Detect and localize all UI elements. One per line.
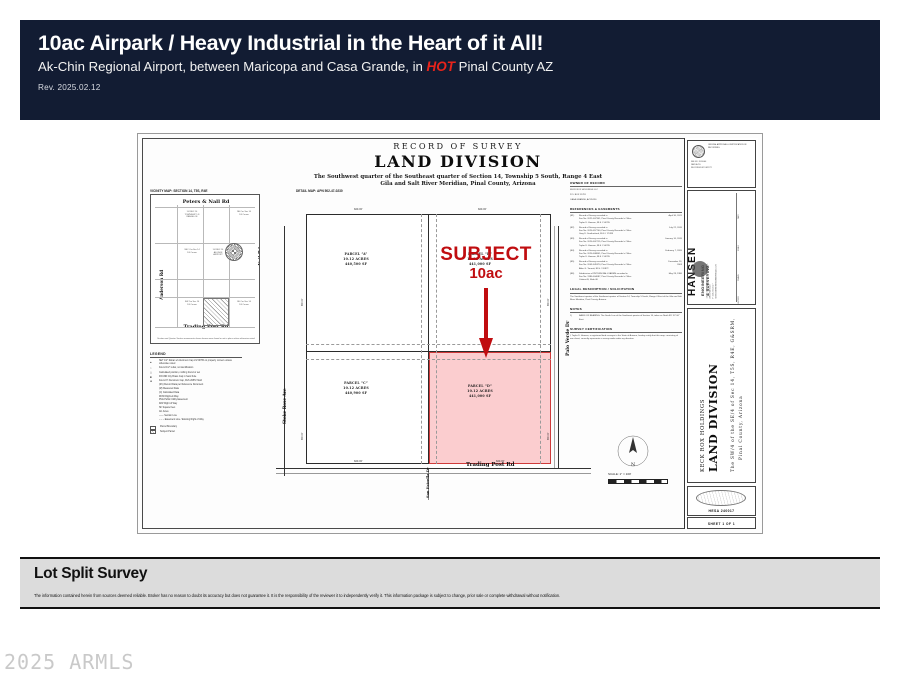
reference-date: January 10, 2020 — [664, 238, 682, 248]
parcel-a-sf: 440,500 SF — [328, 262, 384, 267]
revision-date: Rev. 2025.02.12 — [38, 83, 862, 92]
legal-description-line1: The Southwest quarter of the Southeast q… — [298, 174, 618, 180]
reference-number: (R2) — [570, 227, 577, 237]
reference-row: (R2)Record of Survey recorded in Fee No.… — [570, 227, 682, 237]
legend-symbol-icon: △ — [150, 371, 157, 375]
legend-entry-text: (M) Measured Data — [159, 388, 179, 391]
reference-row: (R5)Record of Survey recorded in Fee No.… — [570, 261, 682, 271]
dimension-bottom-left: 660.00' — [354, 460, 363, 463]
subtitle-text-before: Ak-Chin Regional Airport, between Marico… — [38, 59, 427, 74]
vicinity-cell-label: SW Cor Sec 14 1/4 Corner — [179, 301, 205, 306]
record-of-survey-label: RECORD OF SURVEY — [298, 141, 618, 151]
footer-disclaimer: The information contained herein from so… — [34, 593, 870, 599]
legend-swatch-label: Parcel Boundary — [160, 426, 177, 429]
legend-symbol-icon: ● — [150, 361, 157, 365]
reference-row: (R1)Record of Survey recorded in Fee No.… — [570, 215, 682, 225]
drawing-field: DATE — [738, 203, 740, 219]
hot-badge: HOT — [427, 59, 456, 74]
reference-number: (R1) — [570, 215, 577, 225]
legend-entry: – – – Easement Line / Existing Right of … — [150, 419, 242, 422]
legend-entry-text: Found 3" Aluminum Cap, RLS 20872 flush — [159, 380, 202, 383]
references-block: REFERENCES & EASEMENTS (R1)Record of Sur… — [570, 207, 682, 282]
reference-number: (R6) — [570, 273, 577, 283]
parcel-d-sf: 441,000 SF — [452, 394, 508, 399]
road-label-stoke-rose-ave: Stoke Rose Ave — [282, 388, 287, 424]
drawing-fields: DATE SCALE DRAWN CHECKED — [736, 193, 754, 302]
detail-map-note: DETAIL MAP: APN 502-47-0230 — [296, 189, 343, 193]
vicinity-road-right: Vail Rd — [258, 247, 260, 265]
legend-entry: —— Section Line — [150, 415, 242, 418]
dimension-left-upper: 660.00' — [302, 299, 304, 306]
survey-notes-column: OWNER OF RECORD KECK ROX HOLDINGS LLC P.… — [570, 181, 682, 481]
vicinity-map: Peters & Nall Rd Trading Post Rd Vail Rd… — [150, 194, 260, 344]
parcel-divider-vertical — [428, 214, 429, 464]
firm-logo-icon — [692, 261, 708, 277]
reference-row: (R3)Record of Survey recorded in Fee No.… — [570, 238, 682, 248]
owner-line: CASA GRANDE, AZ 85130 — [570, 199, 682, 202]
drawing-field: DRAWN — [738, 265, 740, 281]
legend-entry-text: —— Section Line — [159, 415, 177, 418]
approval-title: OFFICIAL APPROVAL & CERTIFICATION OF REC… — [708, 144, 753, 149]
parcel-label-d: PARCEL “D” 10.12 ACRES 441,000 SF — [452, 384, 508, 398]
drawing-field: SCALE — [738, 235, 740, 251]
footer-title: Lot Split Survey — [34, 565, 147, 583]
reference-date: December 23, 2003 — [664, 261, 682, 271]
legal-description-block: LEGAL DESCRIPTION / SOLICITATION The Sou… — [570, 287, 682, 302]
legend-entry-text: FOUND City Brass Cap in hand hole — [159, 376, 196, 379]
reference-number: (R5) — [570, 261, 577, 271]
legend-symbol-icon: ⊕ — [150, 380, 157, 384]
survey-sheet-content: RECORD OF SURVEY LAND DIVISION The South… — [138, 134, 762, 533]
approval-field-value: A.P.S. — [696, 164, 701, 166]
page-title: 10ac Airpark / Heavy Industrial in the H… — [38, 32, 862, 55]
owner-line: KECK ROX HOLDINGS LLC — [570, 189, 682, 192]
legend-entry: (R1) Record Data per Reference Document — [150, 384, 242, 387]
armls-watermark: 2025 ARMLS — [4, 650, 134, 674]
reference-date: February 7, 2020 — [664, 250, 682, 260]
parcel-divider-horizontal — [306, 351, 551, 352]
survey-certification-heading: SURVEY CERTIFICATION — [570, 327, 682, 333]
legend-entry: SF Square Feet — [150, 407, 242, 410]
survey-certification-block: SURVEY CERTIFICATION I, Taylor D. Hansen… — [570, 327, 682, 342]
surveyor-stamp-block: HESA 240017 — [687, 486, 756, 516]
reference-row: (R4)Record of Survey recorded in Fee No.… — [570, 250, 682, 260]
survey-certification-text: I, Taylor D. Hansen, a registered land s… — [570, 335, 682, 342]
approval-field-label: DATE — [691, 164, 696, 166]
legend-entry-text: AC Acres — [159, 411, 169, 414]
road-line-right — [558, 226, 559, 468]
road-line-right-secondary — [554, 226, 555, 468]
footer-band: Lot Split Survey The information contain… — [20, 557, 880, 609]
legend-swatches: Parcel Boundary Subject Parcel — [150, 426, 242, 435]
legend-entry: △Calculated position, nothing found or s… — [150, 371, 242, 375]
vicinity-cell-label: SEC Cor Sec 14 1/4 Corner — [179, 249, 205, 254]
vicinity-compass-icon — [225, 243, 243, 261]
page-subtitle: Ak-Chin Regional Airport, between Marico… — [38, 60, 862, 75]
land-division-title: LAND DIVISION — [298, 152, 618, 171]
vicinity-map-note: VICINITY MAP: SECTION 14, T5S, R4E — [150, 189, 208, 193]
vicinity-road-top: Peters & Nall Rd — [151, 199, 260, 205]
legend-entry-text: Found 1/2" rebar, no identification — [159, 367, 193, 370]
drawing-field-label: DRAWN — [738, 274, 740, 281]
parcel-map[interactable]: PARCEL “A” 10.12 ACRES 440,500 SF PARCEL… — [266, 196, 591, 501]
legend-entries: ●SET 1/2" Rebar w/ Aluminum Cap LS 50765… — [150, 360, 242, 422]
vicinity-footnote: Section and Quarter Section monuments sh… — [155, 338, 257, 341]
dimension-right-upper: 660.00' — [548, 299, 550, 306]
drawing-field: CHECKED — [738, 289, 740, 305]
reference-body: Subdivision of PETERS NALL FARMS recorde… — [579, 273, 662, 283]
legend-entry-text: Calculated position, nothing found or se… — [159, 372, 200, 375]
dimension-top: 660.00' — [354, 208, 363, 211]
survey-title-block: OFFICIAL APPROVAL & CERTIFICATION OF REC… — [684, 138, 758, 529]
legend-box-hatched-icon — [150, 430, 156, 434]
drawing-field-label: SCALE — [738, 245, 740, 251]
reference-body: Record of Survey recorded in Fee No. 202… — [579, 250, 662, 260]
note-text: BASIS OF BEARING: The South Line of the … — [579, 315, 682, 322]
vicinity-cell-label: 1/4 SEC 14 TOWNSHIP 5 S RANGE 4 E — [179, 211, 205, 219]
presentation-header: 10ac Airpark / Heavy Industrial in the H… — [20, 20, 880, 120]
drawing-field-label: CHECKED — [738, 296, 740, 305]
legend-entry: ●SET 1/2" Rebar w/ Aluminum Cap LS 50765… — [150, 360, 242, 367]
vicinity-road-left: Anderson Rd — [159, 270, 164, 300]
road-line-bottom-secondary — [276, 473, 591, 474]
project-name: LAND DIVISION — [707, 363, 720, 472]
owner-of-record-heading: OWNER OF RECORD — [570, 181, 682, 187]
legend-entry-text: SET 1/2" Rebar w/ Aluminum Cap LS 50765 … — [159, 360, 242, 367]
project-owner: KECK ROX HOLDINGS — [700, 399, 706, 472]
parcel-label-c: PARCEL “C” 10.12 ACRES 440,900 SF — [328, 381, 384, 395]
owner-of-record-block: OWNER OF RECORD KECK ROX HOLDINGS LLC P.… — [570, 181, 682, 202]
approval-field-value: DEPUTY — [705, 167, 712, 169]
subject-arrow-icon — [478, 288, 494, 360]
legend-box-icon — [150, 426, 156, 430]
drawing-field-label: DATE — [738, 214, 740, 219]
vicinity-subject-hatch — [203, 298, 229, 326]
approval-field-row: RECORDED BY DEPUTY — [691, 167, 752, 170]
survey-document-image[interactable]: RECORD OF SURVEY LAND DIVISION The South… — [137, 133, 763, 534]
legend-swatch-entry: Subject Parcel — [150, 430, 242, 434]
sheet-number: SHEET 1 OF 1 — [687, 517, 756, 529]
notes-block: NOTES 1)BASIS OF BEARING: The South Line… — [570, 307, 682, 322]
reference-body: Record of Survey recorded in Fee No. 200… — [579, 261, 662, 271]
legend-swatch-label: Subject Parcel — [160, 431, 175, 434]
legend-symbol-icon: ○ — [150, 367, 157, 371]
owner-line: P.O. BOX 11781 — [570, 194, 682, 197]
dimension-right-lower: 660.00' — [548, 433, 550, 440]
note-number: 1) — [570, 315, 577, 322]
firm-address: 1351 E. BARTLETT RD, CASA GRANDE, ARIZON… — [707, 261, 718, 298]
engineering-firm-block: HANSEN ENGINEERING & SURVEYING 1351 E. B… — [687, 190, 756, 305]
reference-number: (R4) — [570, 250, 577, 260]
reference-row: (R6)Subdivision of PETERS NALL FARMS rec… — [570, 273, 682, 283]
legal-description-heading: LEGAL DESCRIPTION / SOLICITATION — [570, 287, 682, 293]
subject-parcel-highlight[interactable] — [429, 352, 551, 464]
reference-number: (R3) — [570, 238, 577, 248]
reference-date: July 22, 2020 — [664, 227, 682, 237]
parcel-label-a: PARCEL “A” 10.12 ACRES 440,500 SF — [328, 252, 384, 266]
county-seal-icon — [692, 145, 705, 158]
legend-symbol-icon: ■ — [150, 376, 157, 380]
approval-field-label: FEE NO. — [691, 161, 698, 163]
dimension-left-lower: 660.00' — [302, 433, 304, 440]
legend-entry: ■FOUND City Brass Cap in hand hole — [150, 376, 242, 380]
legend-entry: ○Found 1/2" rebar, no identification — [150, 367, 242, 371]
vicinity-cell-label: SE Cor Sec 14 1/4 Corner — [231, 301, 257, 306]
survey-title-group: RECORD OF SURVEY LAND DIVISION The South… — [298, 141, 618, 187]
project-description-line2: Pinal County, Arizona — [739, 395, 744, 460]
legend-title: LEGEND — [150, 352, 242, 358]
job-number: HESA 240017 — [688, 509, 755, 513]
subtitle-text-after: Pinal County AZ — [455, 59, 553, 74]
dimension-top-right: 660.00' — [478, 208, 487, 211]
references-heading: REFERENCES & EASEMENTS — [570, 207, 682, 213]
project-description-line1: The SW/4 of the SE/4 of Sec 14, T5S, R4E… — [731, 318, 736, 472]
approval-field-value: 2024-044 — [699, 161, 707, 163]
map-legend: LEGEND ●SET 1/2" Rebar w/ Aluminum Cap L… — [150, 352, 242, 500]
parcel-c-sf: 440,900 SF — [328, 391, 384, 396]
legend-entry: AC Acres — [150, 411, 242, 414]
reference-body: Record of Survey recorded in Fee No. 202… — [579, 215, 662, 225]
reference-body: Record of Survey recorded in Fee No. 202… — [579, 227, 662, 237]
parcel-b-sf: 441,000 SF — [452, 262, 508, 267]
reference-date: May 28, 1980 — [664, 273, 682, 283]
legend-entry-text: – – – Easement Line / Existing Right of … — [159, 419, 204, 422]
approval-field-label: RECORDED BY — [691, 167, 704, 169]
legend-entry: (M) Measured Data — [150, 388, 242, 391]
road-line-bottom — [276, 468, 591, 469]
road-label-trading-post-rd: Trading Post Rd — [466, 462, 515, 468]
road-label-san-estrella-dr: San Estrella Dr — [426, 467, 430, 498]
legend-entry-text: (C) Calculated Data — [159, 392, 179, 395]
reference-date: April 30, 2021 — [664, 215, 682, 225]
legend-entry-text: SF Square Feet — [159, 407, 175, 410]
notes-heading: NOTES — [570, 307, 682, 313]
legal-description-text: The Southwest quarter of the Southeast q… — [570, 296, 682, 303]
note-row: 1)BASIS OF BEARING: The South Line of th… — [570, 315, 682, 322]
legend-entry-text: (R1) Record Data per Reference Document — [159, 384, 203, 387]
parcel-label-b: PARCEL “B” 10.12 ACRES 441,000 SF — [452, 252, 508, 266]
approval-fields: FEE NO. 2024-044 DATE A.P.S. RECORDED BY… — [691, 161, 752, 170]
approval-seal-block: OFFICIAL APPROVAL & CERTIFICATION OF REC… — [687, 140, 756, 188]
reference-body: Record of Survey recorded in Fee No. 202… — [579, 238, 662, 248]
project-info-block: KECK ROX HOLDINGS LAND DIVISION The SW/4… — [687, 308, 756, 483]
road-line-left — [284, 226, 285, 476]
surveyor-seal-icon — [696, 490, 746, 506]
legend-swatch-entry: Parcel Boundary — [150, 426, 242, 430]
vicinity-cell-label: NE Cor Sec 14 1/4 Corner — [231, 211, 257, 216]
legend-entry: (C) Calculated Data — [150, 392, 242, 395]
